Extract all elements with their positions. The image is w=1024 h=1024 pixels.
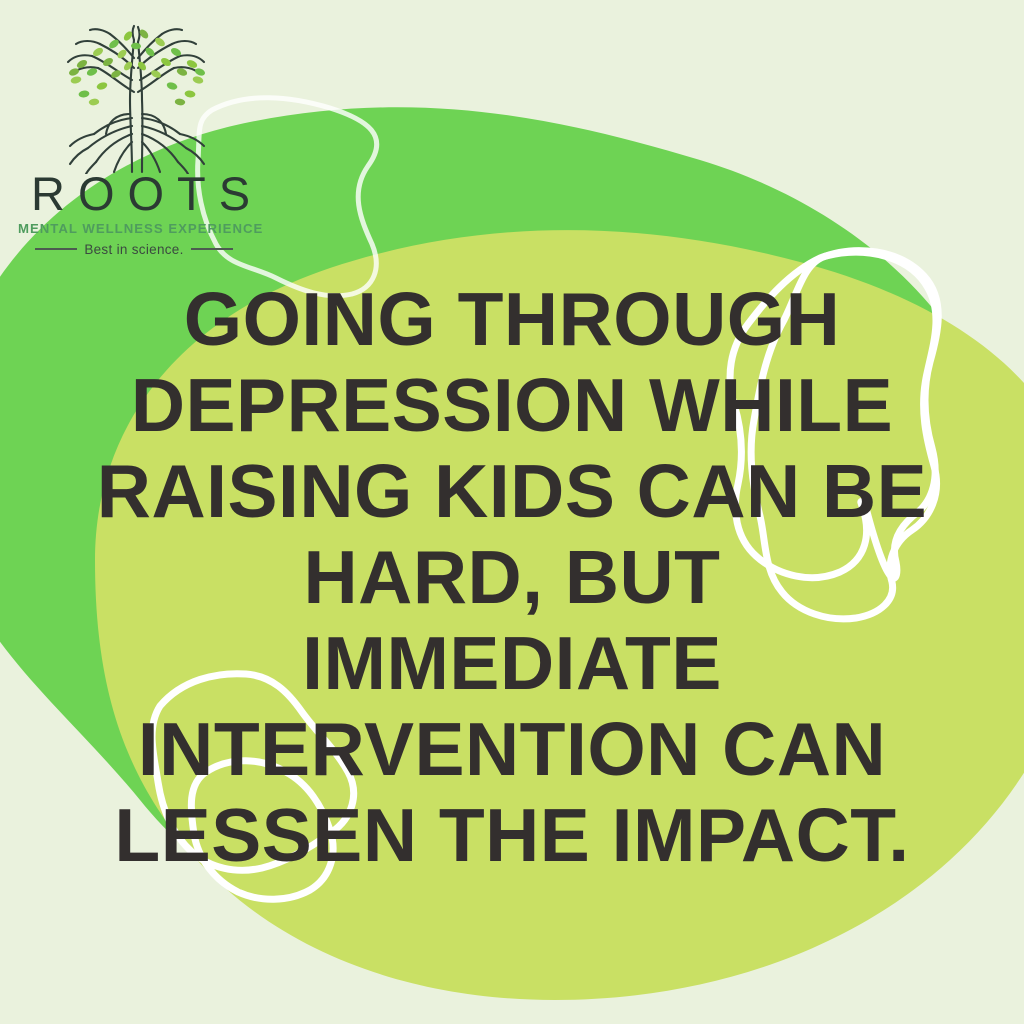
logo-subtitle: MENTAL WELLNESS EXPERIENCE — [18, 221, 250, 236]
poster-canvas: ROOTS MENTAL WELLNESS EXPERIENCE Best in… — [0, 0, 1024, 1024]
brand-logo: ROOTS MENTAL WELLNESS EXPERIENCE Best in… — [18, 22, 250, 244]
headline-line: HARD, BUT — [0, 534, 1024, 620]
headline-line: DEPRESSION WHILE — [0, 362, 1024, 448]
logo-tagline-row: Best in science. — [18, 242, 250, 257]
headline-line: LESSEN THE IMPACT. — [0, 792, 1024, 878]
headline: GOING THROUGH DEPRESSION WHILE RAISING K… — [0, 276, 1024, 878]
headline-line: RAISING KIDS CAN BE — [0, 448, 1024, 534]
logo-wordmark: ROOTS MENTAL WELLNESS EXPERIENCE Best in… — [18, 170, 250, 257]
logo-tagline: Best in science. — [84, 242, 183, 257]
rule-right-icon — [191, 248, 233, 250]
headline-line: INTERVENTION CAN — [0, 706, 1024, 792]
rule-left-icon — [35, 248, 77, 250]
headline-line: GOING THROUGH — [0, 276, 1024, 362]
tree-of-life-icon — [54, 22, 218, 174]
headline-line: IMMEDIATE — [0, 620, 1024, 706]
logo-name: ROOTS — [18, 170, 250, 218]
